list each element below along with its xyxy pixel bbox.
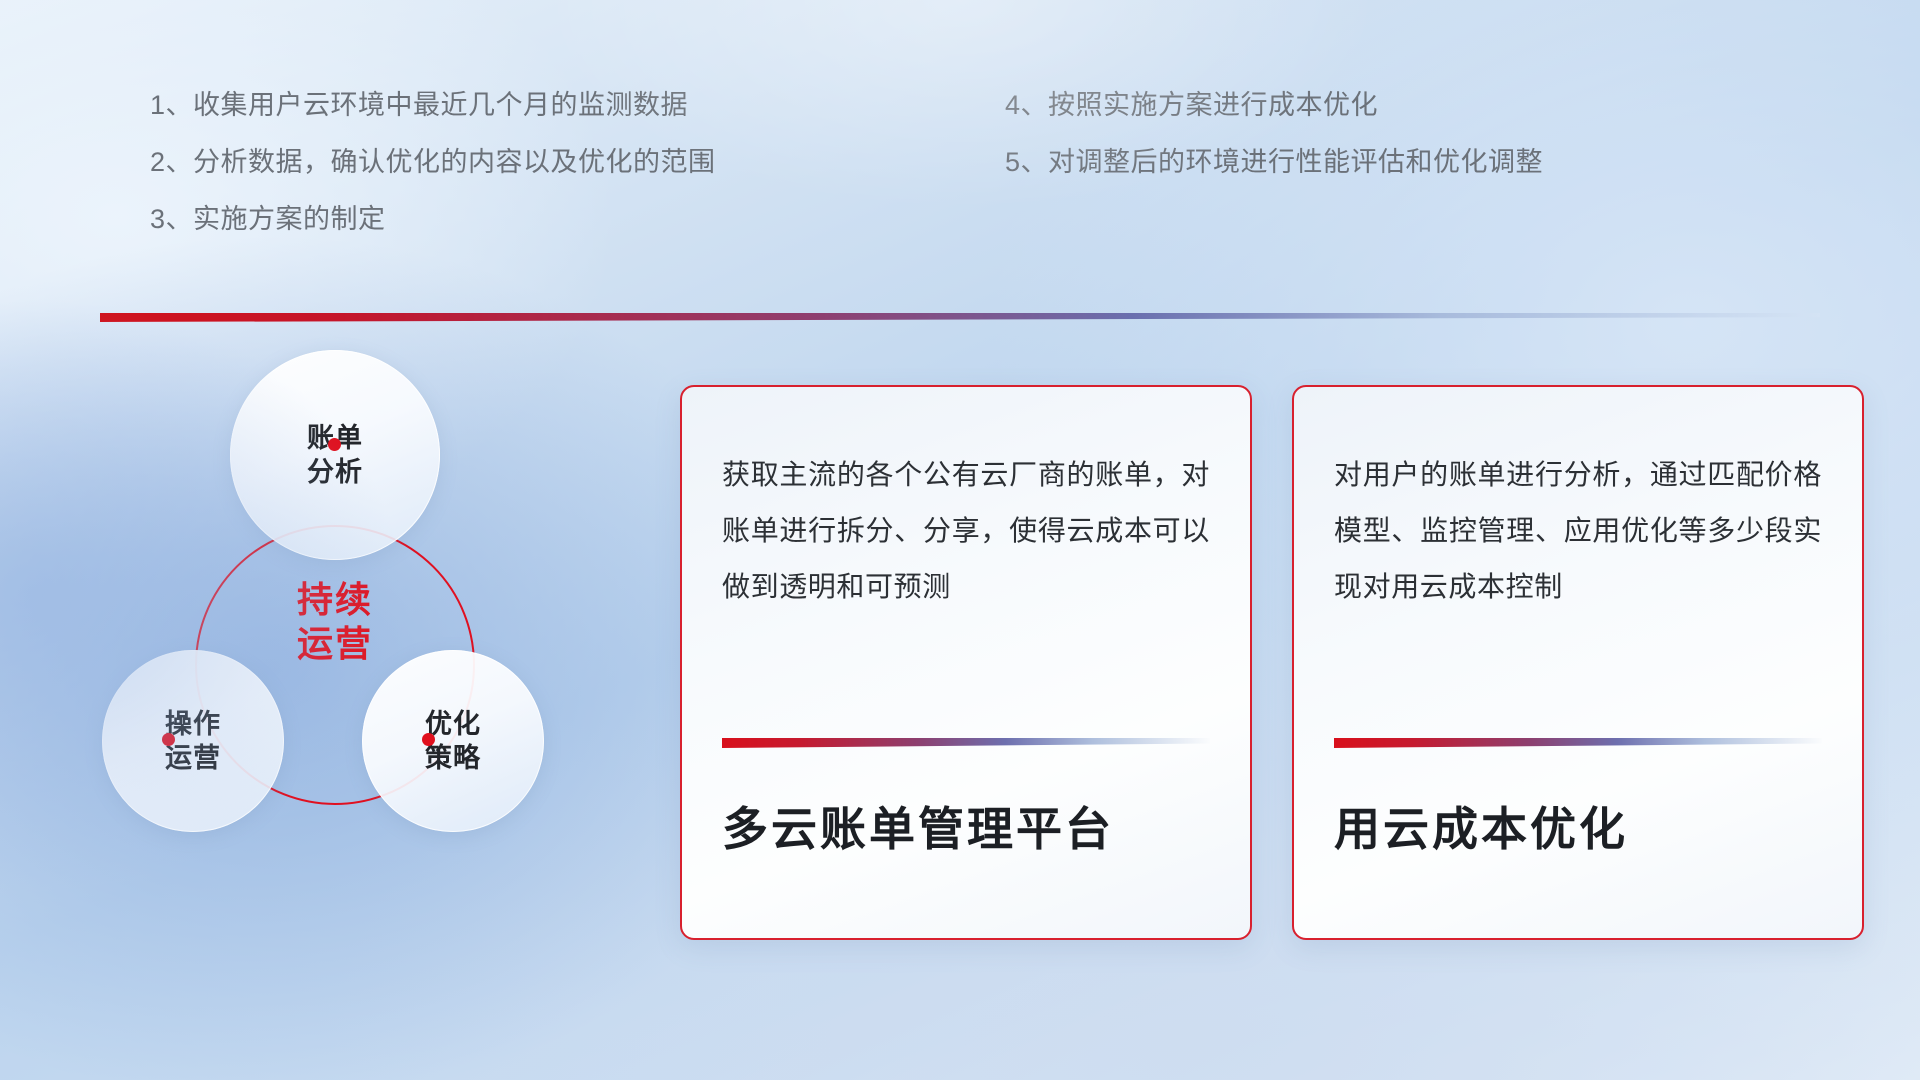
header-steps-left-column: 1、收集用户云环境中最近几个月的监测数据 2、分析数据，确认优化的内容以及优化的… — [0, 92, 860, 263]
diagram-node-label-line2: 策略 — [425, 741, 481, 775]
header-step-item: 5、对调整后的环境进行性能评估和优化调整 — [1005, 149, 1760, 176]
header-steps: 1、收集用户云环境中最近几个月的监测数据 2、分析数据，确认优化的内容以及优化的… — [0, 92, 1920, 263]
continuous-operation-diagram: 持续 运营 账单 分析 操作 运营 优化 策略 — [90, 350, 610, 950]
diagram-node-label-line2: 分析 — [307, 455, 363, 489]
card-title: 多云账单管理平台 — [722, 748, 1210, 938]
card-divider-bar — [1334, 738, 1822, 748]
header-step-item: 1、收集用户云环境中最近几个月的监测数据 — [150, 92, 860, 119]
diagram-node-label-line2: 运营 — [165, 741, 221, 775]
diagram-node-bill-analysis[interactable]: 账单 分析 — [230, 350, 440, 560]
card-divider-bar — [722, 738, 1210, 748]
diagram-connector-dot-top-icon — [328, 438, 341, 451]
diagram-connector-dot-left-icon — [162, 733, 175, 746]
diagram-node-optimization-strategy[interactable]: 优化 策略 — [362, 650, 544, 832]
slide-canvas: 1、收集用户云环境中最近几个月的监测数据 2、分析数据，确认优化的内容以及优化的… — [0, 0, 1920, 1080]
card-body-text: 对用户的账单进行分析，通过匹配价格模型、监控管理、应用优化等多少段实现对用云成本… — [1334, 447, 1822, 615]
header-step-item: 2、分析数据，确认优化的内容以及优化的范围 — [150, 149, 860, 176]
diagram-node-operation[interactable]: 操作 运营 — [102, 650, 284, 832]
header-step-item: 3、实施方案的制定 — [150, 206, 860, 233]
diagram-connector-dot-right-icon — [422, 733, 435, 746]
card-cloud-cost-optimization[interactable]: 对用户的账单进行分析，通过匹配价格模型、监控管理、应用优化等多少段实现对用云成本… — [1292, 385, 1864, 940]
diagram-center-label-line1: 持续 — [195, 578, 475, 622]
card-title: 用云成本优化 — [1334, 748, 1822, 938]
header-steps-right-column: 4、按照实施方案进行成本优化 5、对调整后的环境进行性能评估和优化调整 — [860, 92, 1760, 263]
header-divider-bar — [100, 313, 1820, 322]
card-multicloud-bill-platform[interactable]: 获取主流的各个公有云厂商的账单，对账单进行拆分、分享，使得云成本可以做到透明和可… — [680, 385, 1252, 940]
card-body-text: 获取主流的各个公有云厂商的账单，对账单进行拆分、分享，使得云成本可以做到透明和可… — [722, 447, 1210, 615]
header-step-item: 4、按照实施方案进行成本优化 — [1005, 92, 1760, 119]
